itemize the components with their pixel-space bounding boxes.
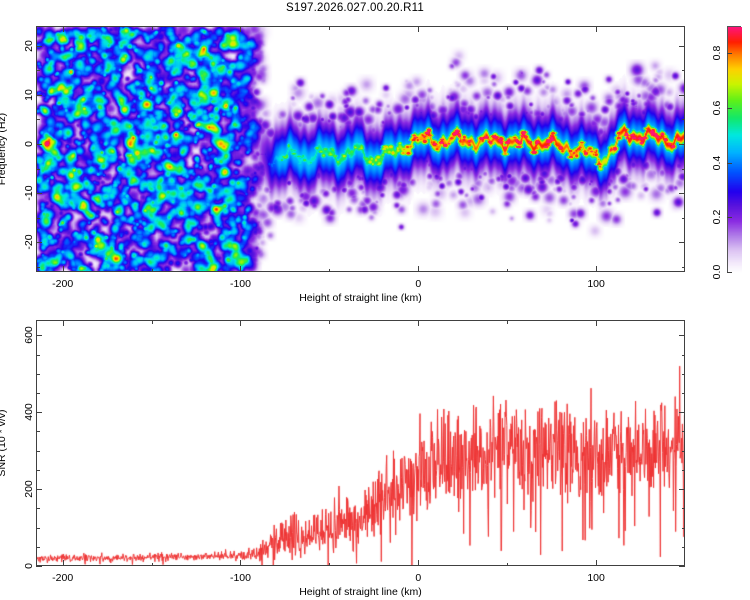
x-tick-major-top (418, 26, 419, 32)
y-tick-minor (36, 374, 40, 375)
y-tick-label: 10 (23, 80, 35, 110)
y-tick-major-right (679, 193, 685, 194)
x-tick-major (418, 266, 419, 272)
y-tick-minor-right (682, 431, 686, 432)
x-tick-minor (152, 269, 153, 273)
snr-trace (37, 321, 685, 566)
x-tick-minor-top (507, 26, 508, 30)
x-tick-major-top (240, 26, 241, 32)
y-tick-minor-right (682, 355, 686, 356)
x-tick-major (240, 266, 241, 272)
y-tick-label: 20 (23, 31, 35, 61)
x-tick-label: -200 (52, 572, 73, 584)
x-tick-major (596, 560, 597, 566)
colorbar-tick (727, 272, 732, 273)
x-tick-label: -200 (52, 278, 73, 290)
colorbar (727, 26, 741, 272)
x-tick-minor-top (329, 26, 330, 30)
x-tick-minor-top (329, 320, 330, 324)
colorbar-tick-label: 0.4 (711, 147, 723, 179)
x-tick-minor (152, 563, 153, 567)
y-tick-minor (36, 70, 40, 71)
x-tick-major-top (596, 26, 597, 32)
y-tick-label: -20 (23, 227, 35, 257)
colorbar-tick (727, 163, 732, 164)
colorbar-tick (727, 53, 732, 54)
y-tick-major (36, 193, 42, 194)
x-tick-minor (329, 269, 330, 273)
y-tick-major-right (679, 144, 685, 145)
y-tick-label: 200 (23, 474, 35, 504)
colorbar-tick-label: 0.0 (711, 256, 723, 288)
y-tick-major (36, 412, 42, 413)
x-tick-minor-top (152, 26, 153, 30)
y-tick-minor-right (682, 508, 686, 509)
x-tick-major-top (63, 26, 64, 32)
y-tick-minor-right (682, 119, 686, 120)
x-tick-major-top (63, 320, 64, 326)
y-tick-label: -10 (23, 178, 35, 208)
y-tick-major (36, 144, 42, 145)
x-tick-minor-top (152, 320, 153, 324)
spectrogram-x-axis-title: Height of straight line (km) (299, 292, 422, 304)
y-tick-minor-right (682, 547, 686, 548)
x-tick-major-top (418, 320, 419, 326)
colorbar-tick (727, 108, 732, 109)
snr-axes (36, 320, 685, 566)
colorbar-tick-label: 0.6 (711, 92, 723, 124)
x-tick-minor (507, 563, 508, 567)
x-tick-label: 100 (587, 572, 605, 584)
y-tick-minor-right (682, 470, 686, 471)
y-tick-minor (36, 169, 40, 170)
y-tick-major-right (679, 95, 685, 96)
y-tick-minor-right (682, 374, 686, 375)
y-tick-major (36, 489, 42, 490)
x-tick-major-top (596, 320, 597, 326)
y-tick-minor-right (682, 169, 686, 170)
y-tick-major-right (679, 46, 685, 47)
x-tick-major (63, 560, 64, 566)
y-tick-minor (36, 355, 40, 356)
y-tick-minor-right (682, 528, 686, 529)
y-tick-minor (36, 119, 40, 120)
spectrogram-axes (36, 26, 685, 272)
y-tick-major-right (679, 242, 685, 243)
x-tick-label: -100 (230, 278, 251, 290)
y-tick-major (36, 95, 42, 96)
x-tick-label: 0 (415, 278, 421, 290)
y-tick-minor (36, 470, 40, 471)
y-tick-minor-right (682, 267, 686, 268)
y-tick-minor (36, 267, 40, 268)
x-tick-minor (329, 563, 330, 567)
y-tick-major-right (679, 412, 685, 413)
x-tick-major-top (240, 320, 241, 326)
x-tick-major (240, 560, 241, 566)
y-tick-minor (36, 431, 40, 432)
y-tick-major (36, 566, 42, 567)
colorbar-tick-label: 0.8 (711, 37, 723, 69)
x-tick-minor (507, 269, 508, 273)
y-tick-minor (36, 393, 40, 394)
y-tick-major (36, 335, 42, 336)
y-tick-label: 0 (23, 129, 35, 159)
x-tick-major (63, 266, 64, 272)
spectrogram-y-axis-title: Frequency (Hz) (0, 89, 8, 209)
x-tick-major (596, 266, 597, 272)
y-tick-minor (36, 218, 40, 219)
colorbar-tick-label: 0.2 (711, 201, 723, 233)
y-tick-label: 400 (23, 397, 35, 427)
spectrogram-image (37, 27, 685, 272)
x-tick-label: 100 (587, 278, 605, 290)
colorbar-tick (727, 217, 732, 218)
y-tick-minor-right (682, 70, 686, 71)
y-tick-minor-right (682, 218, 686, 219)
colorbar-gradient (728, 27, 742, 273)
y-tick-major-right (679, 335, 685, 336)
x-tick-label: 0 (415, 572, 421, 584)
y-tick-label: 600 (23, 320, 35, 350)
y-tick-minor (36, 508, 40, 509)
figure-canvas: S197.2026.027.00.20.R11 -200-1000100-20-… (0, 0, 750, 600)
y-tick-major (36, 242, 42, 243)
x-tick-label: -100 (230, 572, 251, 584)
x-tick-major (418, 560, 419, 566)
snr-y-axis-title: SNR (10 * v/v) (0, 378, 8, 508)
y-tick-minor-right (682, 451, 686, 452)
y-tick-major-right (679, 566, 685, 567)
snr-x-axis-title: Height of straight line (km) (299, 586, 422, 598)
y-tick-minor (36, 547, 40, 548)
y-tick-minor (36, 451, 40, 452)
y-tick-minor-right (682, 393, 686, 394)
y-tick-minor (36, 528, 40, 529)
y-tick-label: 0 (23, 551, 35, 581)
y-tick-major (36, 46, 42, 47)
x-tick-minor-top (507, 320, 508, 324)
y-tick-major-right (679, 489, 685, 490)
figure-title: S197.2026.027.00.20.R11 (0, 2, 710, 14)
